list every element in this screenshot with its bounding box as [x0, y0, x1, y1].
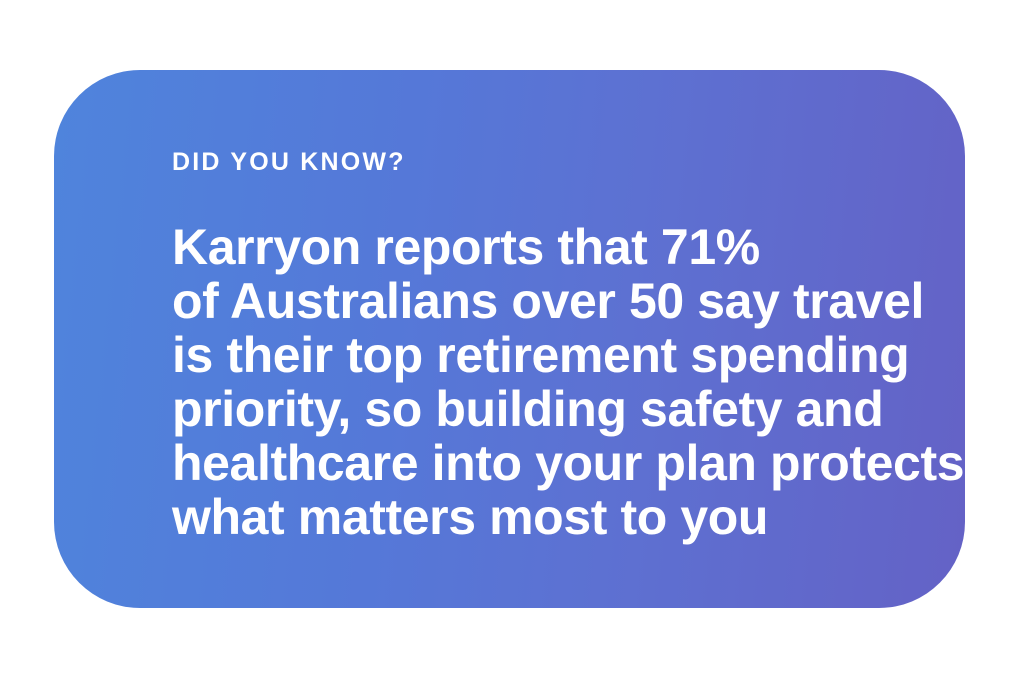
card-content: DID YOU KNOW? Karryon reports that 71% o… [172, 150, 909, 548]
fact-line: Karryon reports that 71% [172, 220, 965, 274]
fact-line: is their top retirement spending [172, 328, 965, 382]
fact-line: healthcare into your plan protects [172, 436, 965, 490]
fact-line: what matters most to you [172, 490, 965, 544]
fact-line: of Australians over 50 say travel [172, 274, 965, 328]
fact-statement: Karryon reports that 71% of Australians … [172, 220, 965, 544]
fact-line: priority, so building safety and [172, 382, 965, 436]
did-you-know-card: DID YOU KNOW? Karryon reports that 71% o… [54, 70, 965, 608]
card-eyebrow-label: DID YOU KNOW? [172, 150, 406, 175]
infographic-canvas: DID YOU KNOW? Karryon reports that 71% o… [0, 0, 1024, 683]
